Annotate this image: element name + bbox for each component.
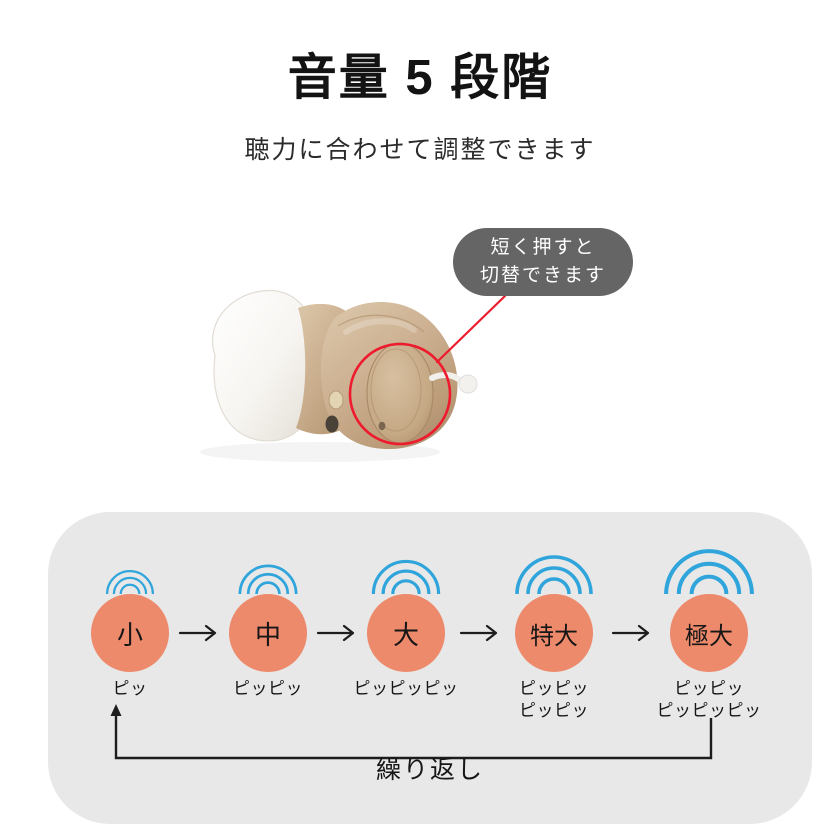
silicone-dome: [213, 291, 312, 441]
loop-arrowhead: [111, 704, 122, 716]
sound-waves-4: [489, 542, 619, 594]
page-root: 音量 5 段階 聴力に合わせて調整できます: [0, 0, 840, 840]
volume-level-circle-5[interactable]: 極大: [670, 594, 748, 672]
volume-steps-panel: 小ピッ中ピッピッ大ピッピッピッ特大ピッピッピッピッ極大ピッピッピッピッピッ 繰り…: [48, 512, 812, 824]
volume-level-circle-3[interactable]: 大: [367, 594, 445, 672]
microphone-port: [326, 416, 339, 433]
volume-level-circle-1[interactable]: 小: [91, 594, 169, 672]
sound-wave-arc: [257, 583, 280, 594]
callout-line-2: 切替できます: [480, 262, 606, 290]
pull-cord-handle: [459, 375, 477, 393]
sound-waves-1: [65, 542, 195, 594]
callout-leader-line: [437, 296, 505, 362]
sound-wave-arc: [692, 577, 727, 594]
sound-wave-arc: [528, 568, 580, 594]
sound-wave-arc: [679, 564, 739, 594]
sound-wave-icon: [65, 542, 195, 594]
sound-wave-icon: [203, 542, 333, 594]
sound-wave-arc: [539, 579, 569, 594]
page-title: 音量 5 段階: [0, 50, 840, 106]
gold-contact-pad: [329, 391, 343, 409]
button-face-plate: [367, 343, 433, 443]
callout-bubble: 短く押すと 切替できます: [453, 228, 633, 296]
page-subtitle: 聴力に合わせて調整できます: [0, 134, 840, 167]
repeat-label: 繰り返し: [48, 750, 812, 786]
sound-wave-arc: [383, 571, 429, 594]
sound-wave-arc: [114, 578, 146, 594]
volume-step-4[interactable]: 特大ピッピッピッピッ: [489, 542, 619, 723]
volume-step-3[interactable]: 大ピッピッピッ: [341, 542, 471, 700]
sound-wave-icon: [489, 542, 619, 594]
device-illustration: [0, 200, 840, 500]
sound-wave-icon: [341, 542, 471, 594]
volume-level-circle-4[interactable]: 特大: [515, 594, 593, 672]
volume-level-circle-2[interactable]: 中: [229, 594, 307, 672]
sound-wave-arc: [248, 574, 288, 594]
indicator-pinhole: [379, 422, 386, 430]
volume-step-5[interactable]: 極大ピッピッピッピッピッ: [644, 542, 774, 723]
sound-wave-arc: [393, 581, 419, 594]
sound-waves-5: [644, 542, 774, 594]
sound-waves-3: [341, 542, 471, 594]
sound-waves-2: [203, 542, 333, 594]
hearing-aid-image: [0, 200, 840, 500]
callout-line-1: 短く押すと: [490, 234, 595, 262]
sound-wave-icon: [644, 542, 774, 594]
sound-wave-arc: [121, 585, 140, 594]
